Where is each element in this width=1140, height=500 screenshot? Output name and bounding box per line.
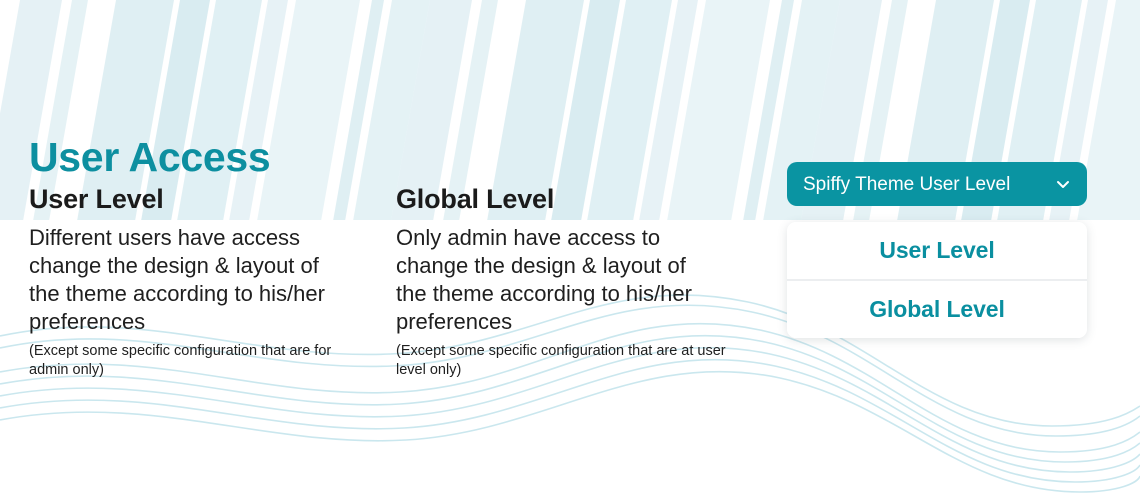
column-heading-global-level: Global Level	[396, 184, 741, 215]
dropdown-toggle-button[interactable]: Spiffy Theme User Level	[787, 162, 1087, 206]
dropdown-options-menu: User Level Global Level	[787, 222, 1087, 338]
theme-user-level-dropdown: Spiffy Theme User Level User Level Globa…	[787, 162, 1087, 206]
page-title: User Access	[29, 135, 270, 180]
column-note-global-level: (Except some specific configuration that…	[396, 342, 726, 380]
column-body-global-level: Only admin have access to change the des…	[396, 224, 716, 336]
column-body-user-level: Different users have access change the d…	[29, 224, 349, 336]
dropdown-option-global-level[interactable]: Global Level	[787, 279, 1087, 338]
column-global-level: Global Level Only admin have access to c…	[396, 184, 741, 380]
column-user-level: User Level Different users have access c…	[29, 184, 374, 380]
dropdown-selected-label: Spiffy Theme User Level	[803, 175, 1010, 194]
column-note-user-level: (Except some specific configuration that…	[29, 342, 359, 380]
dropdown-option-user-level[interactable]: User Level	[787, 222, 1087, 279]
slide-canvas: User Access User Level Different users h…	[0, 0, 1140, 500]
slide-content: User Access User Level Different users h…	[0, 0, 1140, 500]
chevron-down-icon	[1055, 176, 1071, 192]
column-heading-user-level: User Level	[29, 184, 374, 215]
